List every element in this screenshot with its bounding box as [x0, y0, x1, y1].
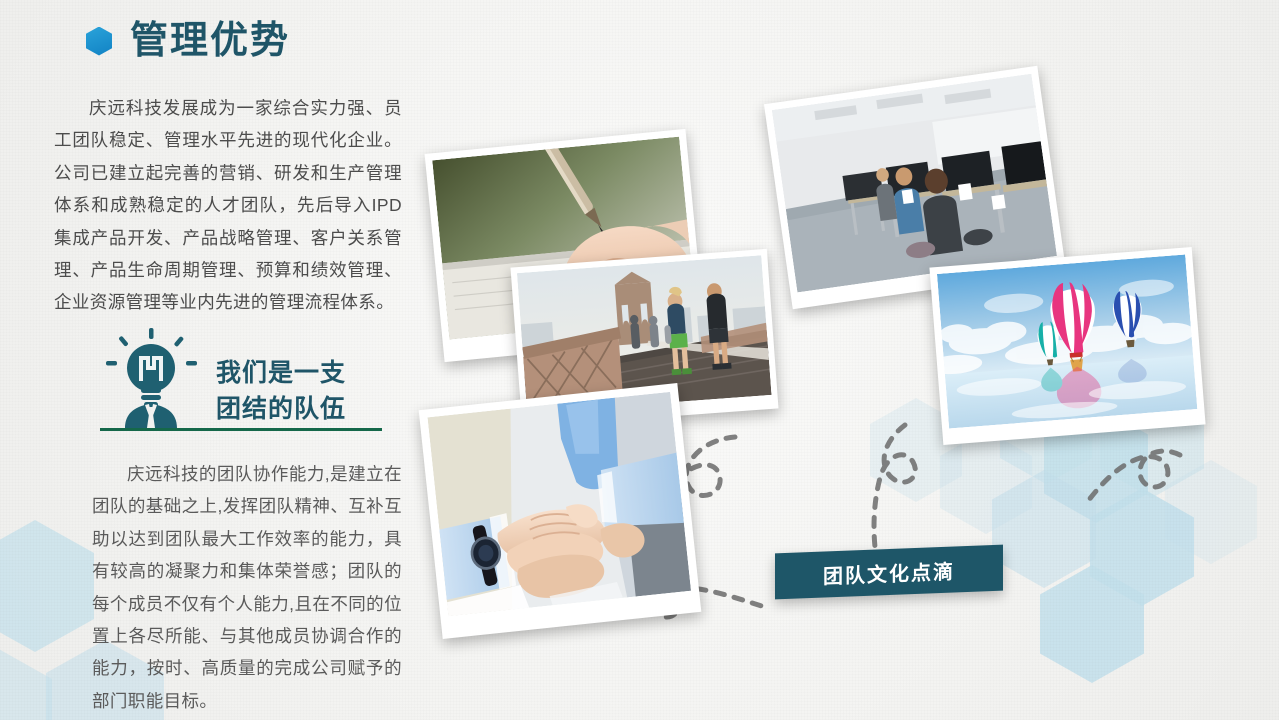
status-badge: 团队文化点滴: [775, 545, 1003, 600]
banner-label: 团队文化点滴: [823, 555, 955, 589]
lightbulb-head-person-icon: [103, 328, 199, 428]
team-heading-block: 我们是一支 团结的队伍: [100, 328, 382, 438]
hexagon-decor-shape: [0, 520, 94, 652]
page-title: 管理优势: [86, 22, 290, 60]
hexagon-decor-shape: [0, 648, 52, 720]
team-heading-underline: [100, 428, 382, 431]
team-heading-label: 我们是一支 团结的队伍: [216, 356, 346, 427]
photo-hot-air-balloons[interactable]: [929, 247, 1205, 445]
slide-canvas: 管理优势 庆远科技发展成为一家综合实力强、员工团队稳定、管理水平先进的现代化企业…: [0, 0, 1279, 720]
team-paragraph: 庆远科技的团队协作能力,是建立在团队的基础之上,发挥团队精神、互补互助以达到团队…: [92, 458, 402, 717]
page-title-label: 管理优势: [130, 22, 290, 60]
hexagon-icon: [86, 27, 112, 56]
photo-teamwork-hands[interactable]: [419, 383, 702, 639]
intro-paragraph: 庆远科技发展成为一家综合实力强、员工团队稳定、管理水平先进的现代化企业。公司已建…: [54, 92, 402, 319]
